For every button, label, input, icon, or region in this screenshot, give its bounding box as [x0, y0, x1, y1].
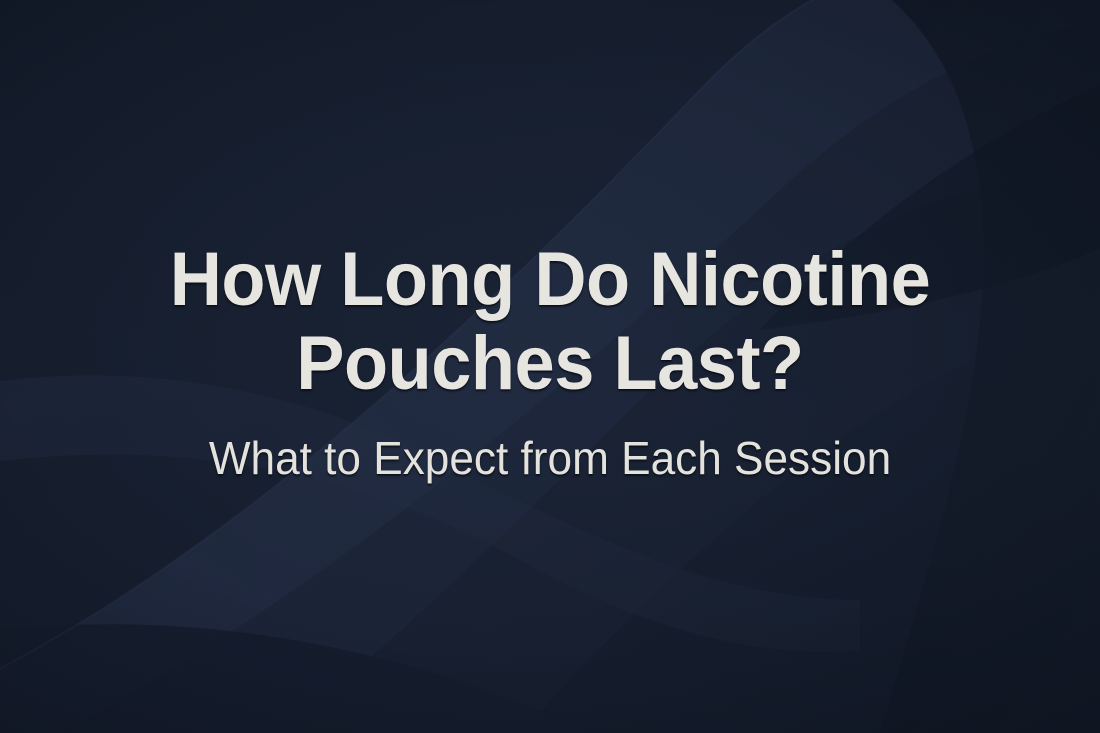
page-subtitle: What to Expect from Each Session	[118, 432, 982, 485]
page-title-line-1: How Long Do Nicotine	[123, 238, 978, 322]
page-title: How Long Do Nicotine Pouches Last?	[123, 238, 978, 405]
hero-banner: How Long Do Nicotine Pouches Last? What …	[0, 0, 1100, 733]
page-title-line-2: Pouches Last?	[123, 322, 978, 406]
banner-content: How Long Do Nicotine Pouches Last? What …	[0, 0, 1100, 733]
